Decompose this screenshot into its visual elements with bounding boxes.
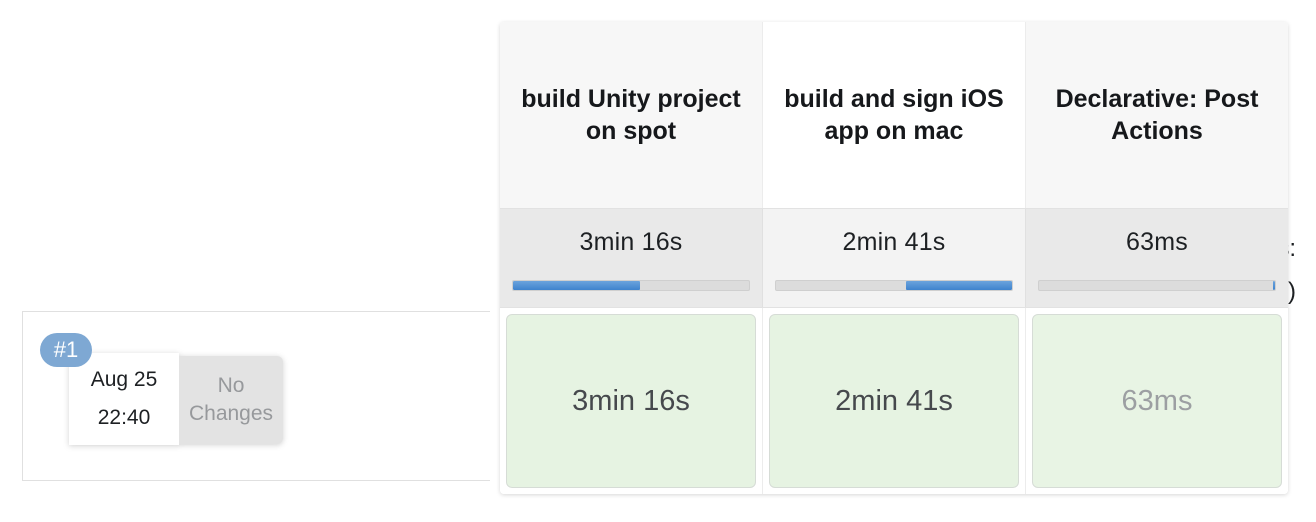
timeline-track-1 xyxy=(775,280,1013,291)
stage-cell-0[interactable]: 3min 16s xyxy=(500,308,763,494)
stage-header-0[interactable]: build Unity project on spot xyxy=(500,22,763,208)
timeline-track-0 xyxy=(512,280,750,291)
build-date: Aug 25 xyxy=(91,368,158,392)
stage-cell-1[interactable]: 2min 41s xyxy=(763,308,1026,494)
stage-duration-0[interactable]: 3min 16s xyxy=(506,314,756,488)
timeline-fill-0 xyxy=(513,281,640,290)
average-cell-1: 2min 41s xyxy=(763,209,1026,307)
average-time-1: 2min 41s xyxy=(842,228,945,257)
stage-duration-1[interactable]: 2min 41s xyxy=(769,314,1019,488)
stage-duration-2[interactable]: 63ms xyxy=(1032,314,1282,488)
stage-header-1[interactable]: build and sign iOS app on mac xyxy=(763,22,1026,208)
average-time-0: 3min 16s xyxy=(579,228,682,257)
average-cell-2: 63ms xyxy=(1026,209,1288,307)
timeline-track-2 xyxy=(1038,280,1276,291)
timeline-fill-2 xyxy=(1273,281,1275,290)
average-row: 3min 16s 2min 41s 63ms xyxy=(500,208,1288,307)
build-summary-card[interactable]: Aug 25 22:40 No Changes xyxy=(69,353,283,445)
average-time-2: 63ms xyxy=(1126,228,1188,257)
build-changes-block[interactable]: No Changes xyxy=(179,356,283,444)
build-date-block: Aug 25 22:40 xyxy=(69,353,179,445)
build-time: 22:40 xyxy=(98,406,151,430)
stage-table: build Unity project on spot build and si… xyxy=(500,22,1288,494)
stage-header-2[interactable]: Declarative: Post Actions xyxy=(1026,22,1288,208)
timeline-fill-1 xyxy=(906,281,1012,290)
stage-cell-2[interactable]: 63ms xyxy=(1026,308,1288,494)
average-cell-0: 3min 16s xyxy=(500,209,763,307)
stage-view-screen: Average stage times: (Average full run t… xyxy=(0,0,1316,522)
stage-header-row: build Unity project on spot build and si… xyxy=(500,22,1288,208)
build-number-badge[interactable]: #1 xyxy=(40,333,92,367)
build-row-1[interactable]: #1 Aug 25 22:40 No Changes xyxy=(22,311,490,481)
build-stage-row: 3min 16s 2min 41s 63ms xyxy=(500,307,1288,494)
